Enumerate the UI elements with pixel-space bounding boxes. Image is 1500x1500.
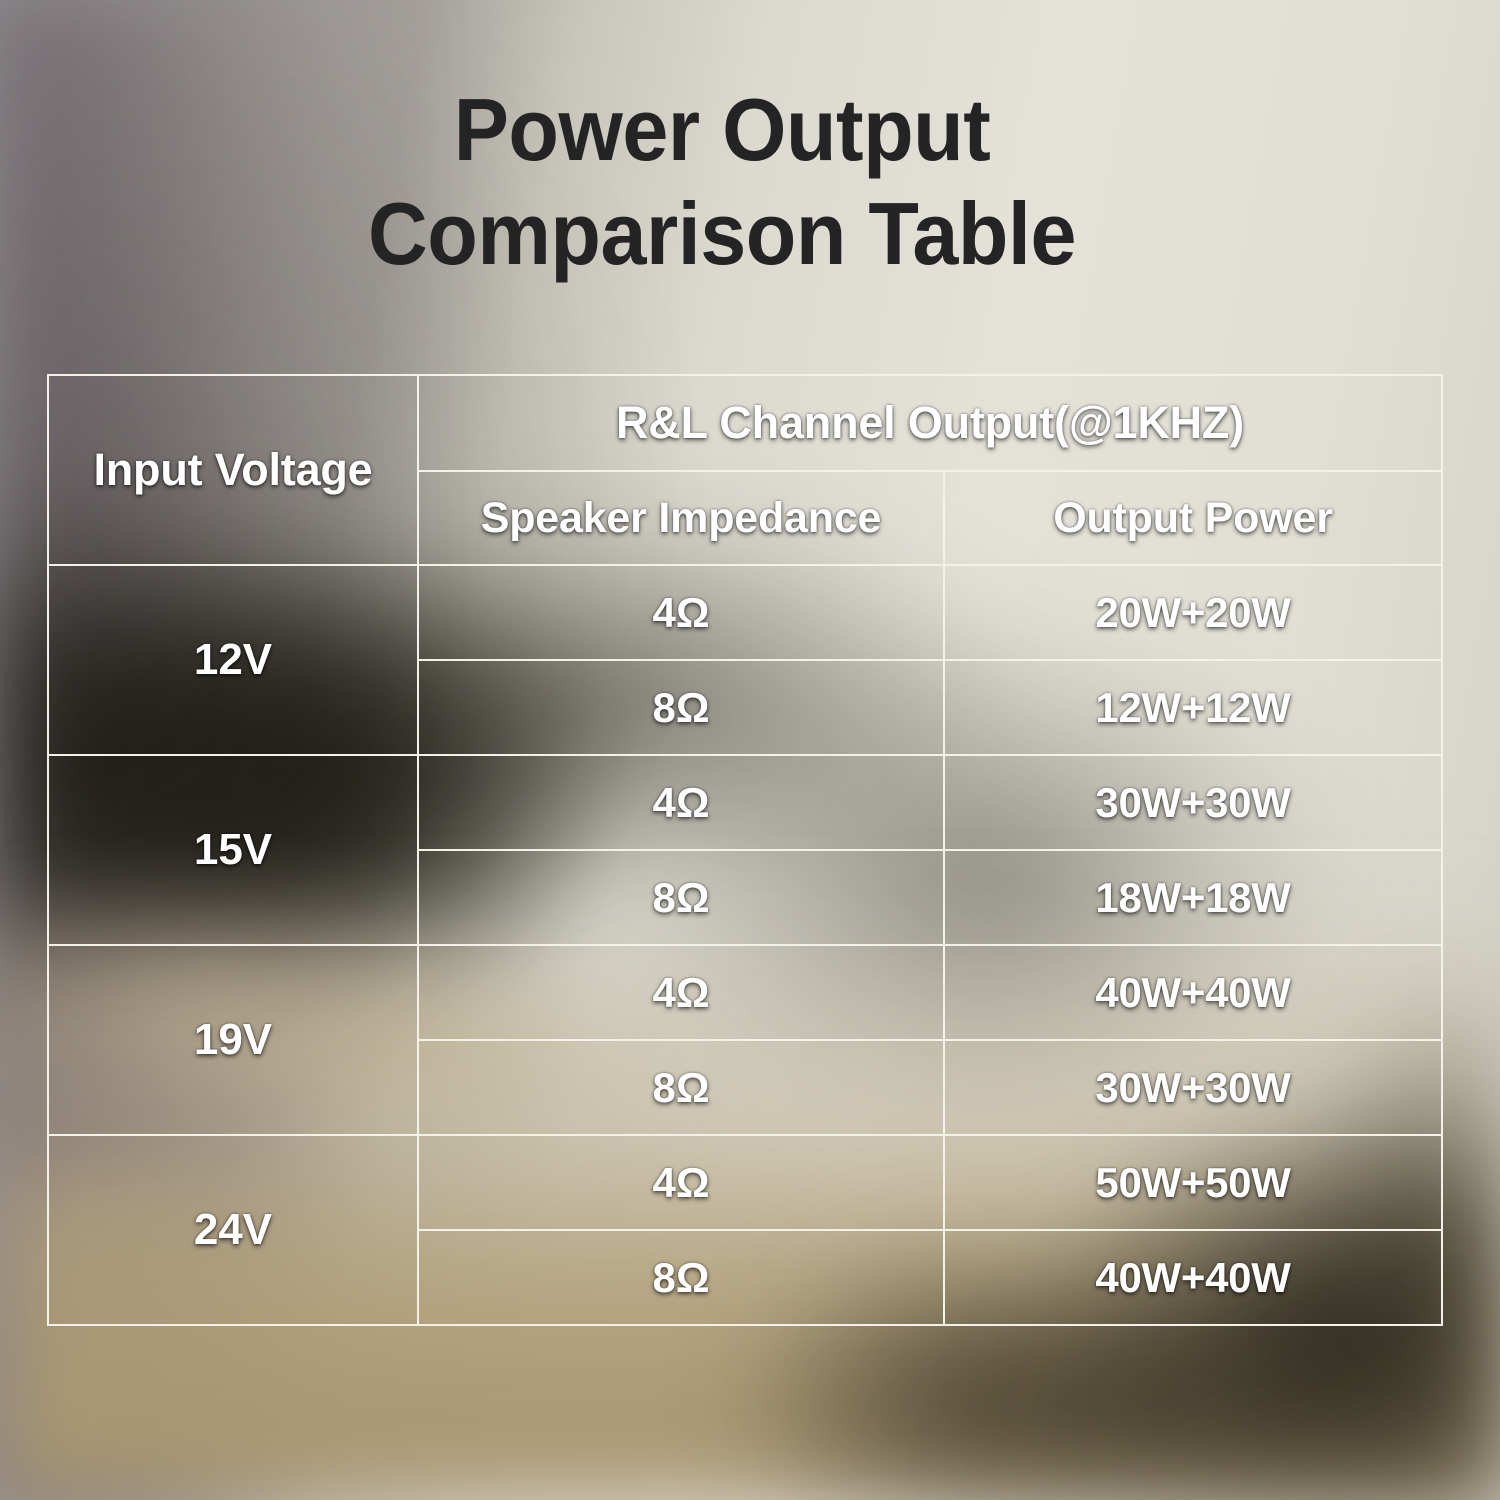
product-spec-graphic: Power Output Comparison Table Input Volt…: [0, 0, 1500, 1500]
cell-output-power: 50W+50W: [944, 1135, 1442, 1230]
cell-input-voltage: 19V: [48, 945, 418, 1135]
cell-input-voltage: 15V: [48, 755, 418, 945]
cell-speaker-impedance: 4Ω: [418, 1135, 944, 1230]
table-row: 24V 4Ω 50W+50W: [48, 1135, 1442, 1230]
power-output-comparison-table: Input Voltage R&L Channel Output(@1KHZ) …: [47, 374, 1443, 1326]
header-output-power: Output Power: [944, 471, 1442, 565]
cell-output-power: 40W+40W: [944, 945, 1442, 1040]
table-row: 12V 4Ω 20W+20W: [48, 565, 1442, 660]
cell-speaker-impedance: 4Ω: [418, 565, 944, 660]
cell-speaker-impedance: 4Ω: [418, 945, 944, 1040]
header-speaker-impedance: Speaker Impedance: [418, 471, 944, 565]
cell-speaker-impedance: 8Ω: [418, 660, 944, 755]
page-title-line-2: Comparison Table: [43, 182, 1400, 286]
table-row: 15V 4Ω 30W+30W: [48, 755, 1442, 850]
header-rl-channel-output: R&L Channel Output(@1KHZ): [418, 375, 1442, 471]
cell-speaker-impedance: 8Ω: [418, 850, 944, 945]
cell-output-power: 18W+18W: [944, 850, 1442, 945]
page-title-line-1: Power Output: [43, 78, 1400, 182]
cell-speaker-impedance: 8Ω: [418, 1040, 944, 1135]
page-title: Power Output Comparison Table: [0, 78, 1444, 286]
cell-speaker-impedance: 4Ω: [418, 755, 944, 850]
table-header-row-main: Input Voltage R&L Channel Output(@1KHZ): [48, 375, 1442, 471]
cell-input-voltage: 12V: [48, 565, 418, 755]
cell-output-power: 30W+30W: [944, 755, 1442, 850]
header-input-voltage: Input Voltage: [48, 375, 418, 565]
cell-output-power: 40W+40W: [944, 1230, 1442, 1325]
cell-input-voltage: 24V: [48, 1135, 418, 1325]
cell-output-power: 12W+12W: [944, 660, 1442, 755]
cell-speaker-impedance: 8Ω: [418, 1230, 944, 1325]
cell-output-power: 20W+20W: [944, 565, 1442, 660]
cell-output-power: 30W+30W: [944, 1040, 1442, 1135]
table-row: 19V 4Ω 40W+40W: [48, 945, 1442, 1040]
